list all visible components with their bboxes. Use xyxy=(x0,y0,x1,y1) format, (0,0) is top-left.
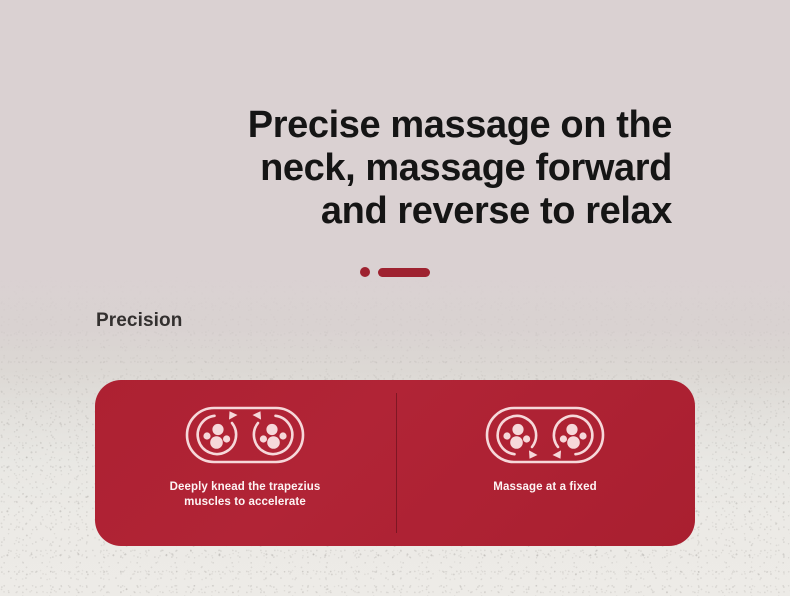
feature-panel-reverse: Massage at a fixed xyxy=(395,380,695,546)
ornament-dot-icon xyxy=(360,267,370,277)
page-title: Precise massage on the neck, massage for… xyxy=(0,104,790,233)
section-label: Precision xyxy=(96,310,182,332)
feature-panel-forward: Deeply knead the trapezius muscles to ac… xyxy=(95,380,395,546)
feature-card: Deeply knead the trapezius muscles to ac… xyxy=(95,380,695,546)
feature-panel-caption: Massage at a fixed xyxy=(493,480,596,495)
massage-heads-reverse-rotation-icon xyxy=(481,402,609,468)
feature-panel-caption: Deeply knead the trapezius muscles to ac… xyxy=(170,480,321,510)
massage-heads-forward-rotation-icon xyxy=(181,402,309,468)
ornament-bar-icon xyxy=(378,268,430,277)
product-feature-banner: Precise massage on the neck, massage for… xyxy=(0,0,790,596)
divider-ornament xyxy=(360,267,430,277)
